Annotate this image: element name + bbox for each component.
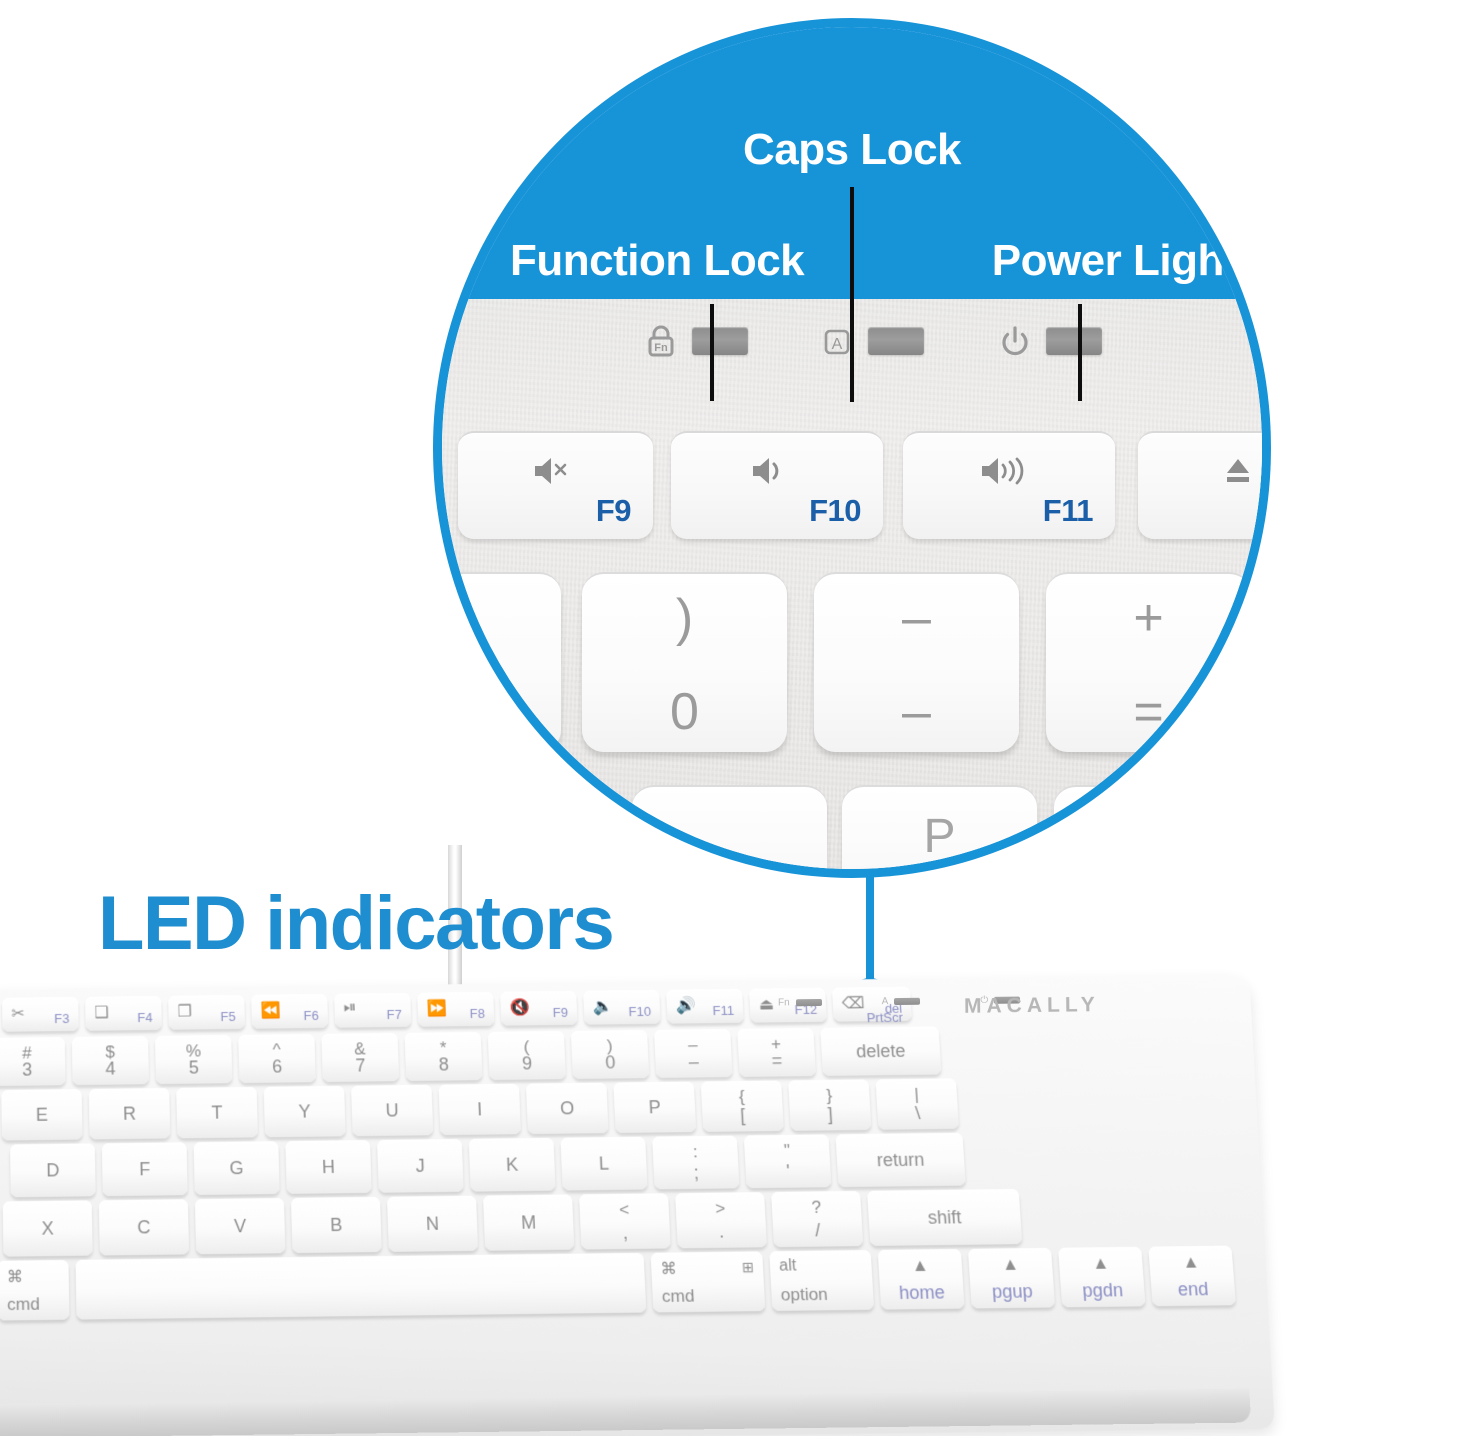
led-function-lock: Fn — [644, 323, 748, 359]
keyboard-led-caps: A — [882, 996, 921, 1007]
svg-text:A: A — [832, 336, 843, 353]
key-glyph: ⏩ — [426, 998, 447, 1018]
key-D[interactable]: D — [10, 1143, 96, 1197]
key-plus-upper: + — [1133, 592, 1163, 644]
key-shift[interactable]: shift — [867, 1189, 1022, 1246]
key-G[interactable]: G — [194, 1141, 280, 1195]
key-8[interactable]: *8 — [405, 1032, 483, 1081]
key-glyph: 🔈 — [592, 996, 613, 1016]
key-upper: > — [715, 1199, 726, 1220]
key-minus-lower: – — [902, 686, 931, 738]
key-lower: – — [688, 1051, 699, 1072]
key-modifier-glyph: alt — [779, 1257, 797, 1276]
key-fn-label: F11 — [712, 1003, 734, 1018]
key-{-[[interactable]: {[ — [701, 1080, 784, 1131]
key-option[interactable]: altoption — [769, 1250, 874, 1311]
key-label: T — [211, 1102, 223, 1123]
key-label: X — [41, 1218, 53, 1240]
key-fn-label: F10 — [628, 1004, 651, 1019]
key-5[interactable]: %5 — [155, 1035, 232, 1084]
key-label: R — [123, 1103, 137, 1124]
key-partial-o[interactable] — [632, 785, 827, 878]
key-upper: < — [619, 1200, 630, 1221]
key-f6[interactable]: ⏪F6 — [251, 994, 328, 1029]
key-f3[interactable]: ✂F3 — [2, 997, 79, 1032]
fn-lock-icon: Fn — [644, 323, 678, 359]
key-nav-label: pgdn — [1082, 1280, 1124, 1302]
key-label: C — [137, 1216, 151, 1238]
key-fn-label: F4 — [137, 1010, 153, 1025]
volume-down-icon — [749, 453, 805, 494]
key-modifier-label: cmd — [661, 1286, 695, 1307]
key-glyph: 🔇 — [509, 997, 530, 1017]
key-lower: 9 — [522, 1053, 533, 1074]
key-nav-label: pgup — [991, 1281, 1033, 1303]
key-partial-left[interactable] — [433, 572, 561, 752]
key-lower: 5 — [189, 1057, 200, 1078]
key-f11-label: F11 — [1043, 493, 1093, 529]
key-modifier-glyph: ⌘ — [660, 1259, 677, 1280]
key-upper: " — [783, 1141, 790, 1161]
key-upper: : — [692, 1142, 698, 1162]
key-f10[interactable]: F10 — [671, 431, 883, 539]
key-glyph: ❑ — [94, 1002, 109, 1022]
key-lower: 3 — [22, 1059, 32, 1080]
key-pgup[interactable]: ▲pgup — [968, 1248, 1055, 1309]
keyboard-q-row: ERTYUIOP{[}]|\ — [1, 1078, 959, 1140]
key-space[interactable] — [76, 1253, 647, 1320]
windows-icon: ⊞ — [741, 1259, 754, 1277]
key-p[interactable]: P — [842, 785, 1037, 878]
arrow-up-icon: ▲ — [1092, 1253, 1111, 1274]
key-end[interactable]: ▲end — [1148, 1246, 1236, 1307]
key-pgdn[interactable]: ▲pgdn — [1058, 1247, 1146, 1308]
key-modifier-label: option — [780, 1284, 828, 1305]
key-0[interactable]: ) 0 — [582, 572, 787, 752]
key-f10[interactable]: 🔈F10 — [583, 990, 661, 1025]
key-label: M — [521, 1212, 537, 1234]
led-caps-lock: A — [820, 323, 924, 359]
key-plus-lower: = — [1133, 686, 1163, 738]
key-fn-label: F9 — [553, 1005, 569, 1020]
key-label: Y — [298, 1101, 311, 1122]
volume-up-icon — [978, 453, 1040, 494]
key-nav-label: home — [898, 1282, 945, 1304]
key-}-][interactable]: }] — [788, 1079, 871, 1130]
key-label: U — [385, 1100, 399, 1121]
key-label: P — [648, 1097, 661, 1118]
key-lower: ; — [693, 1162, 699, 1183]
key-glyph: ⏏ — [758, 994, 774, 1014]
key-6[interactable]: ^6 — [238, 1034, 316, 1083]
key-lower: 7 — [355, 1055, 366, 1076]
key-K[interactable]: K — [469, 1138, 556, 1192]
key-U[interactable]: U — [351, 1085, 433, 1136]
key-delete[interactable]: delete — [820, 1026, 941, 1076]
key-–[interactable]: –– — [654, 1029, 733, 1078]
key-modifier-label: cmd — [7, 1294, 40, 1315]
leader-line-power-light — [1078, 304, 1082, 401]
key-?-/[interactable]: ?/ — [771, 1191, 863, 1247]
key-glyph: 🔊 — [675, 995, 696, 1015]
key-0-lower: 0 — [670, 686, 699, 738]
key-cmd[interactable]: ⌘⊞cmd — [651, 1251, 766, 1312]
key-R[interactable]: R — [89, 1088, 171, 1139]
key-f9[interactable]: 🔇F9 — [500, 991, 577, 1026]
key-glyph: ❐ — [177, 1001, 192, 1021]
key-lower: 6 — [272, 1056, 283, 1077]
key-fn-label: F7 — [386, 1007, 402, 1022]
callout-label-caps-lock: Caps Lock — [743, 125, 961, 175]
key-upper: ? — [811, 1198, 822, 1219]
volume-mute-icon — [531, 453, 581, 494]
key-label: G — [229, 1157, 244, 1179]
key-fn-label: F8 — [469, 1006, 485, 1021]
callout-label-function-lock: Function Lock — [510, 236, 804, 286]
key-f8[interactable]: ⏩F8 — [417, 992, 494, 1027]
fn-lock-lamp — [692, 327, 748, 355]
key-0-upper: ) — [676, 592, 693, 644]
keyboard-led-fn: Fn — [778, 997, 822, 1008]
key-fn-label: F5 — [220, 1009, 236, 1024]
key-f10-label: F10 — [809, 493, 861, 529]
key-label: F — [139, 1158, 151, 1179]
key-minus[interactable]: – – — [814, 572, 1019, 752]
key-label: return — [876, 1149, 925, 1171]
magnified-letter-key-row: P [ — [442, 785, 1262, 878]
key-fn-label: F6 — [303, 1008, 319, 1023]
key-lower: ] — [827, 1104, 833, 1125]
key-label: D — [46, 1160, 59, 1181]
key-7[interactable]: &7 — [321, 1033, 399, 1082]
keyboard-number-row: #3$4%5^6&7*8(9)0––+=delete — [0, 1026, 941, 1086]
key-label: E — [36, 1104, 48, 1125]
key-"-'[interactable]: "' — [744, 1134, 832, 1188]
power-lamp — [1046, 327, 1102, 355]
key-modifier-glyph: ⌘ — [7, 1267, 24, 1288]
key-label: delete — [856, 1040, 906, 1062]
key-label: J — [415, 1155, 425, 1176]
key-glyph: ✂ — [11, 1004, 25, 1024]
brand-logo: MACALLY — [964, 993, 1100, 1019]
key-bracket-left[interactable]: [ — [1054, 785, 1249, 878]
eject-icon — [1218, 453, 1258, 494]
key-f4[interactable]: ❑F4 — [85, 996, 162, 1031]
key-f7[interactable]: ⏯F7 — [334, 993, 411, 1028]
key-M[interactable]: M — [483, 1194, 574, 1250]
key-V[interactable]: V — [195, 1198, 286, 1254]
key-=[interactable]: += — [737, 1028, 816, 1077]
magnified-number-key-row: ) 0 – – + = — [442, 572, 1262, 762]
key-9[interactable]: (9 — [488, 1031, 566, 1080]
key-E[interactable]: E — [1, 1089, 82, 1140]
key-label: B — [330, 1214, 343, 1236]
keyboard-modifier-row: ⌘cmd⌘⊞cmdaltoption▲home▲pgup▲pgdn▲end — [0, 1246, 1236, 1321]
keyboard-function-row: ✂F3❑F4❐F5⏪F6⏯F7⏩F8🔇F9🔈F10🔊F11⏏F12⌫delPrt… — [2, 987, 912, 1032]
key-:-;[interactable]: :; — [652, 1136, 739, 1190]
key-return[interactable]: return — [835, 1133, 965, 1187]
key-T[interactable]: T — [176, 1087, 258, 1138]
svg-text:Fn: Fn — [654, 342, 668, 354]
key-lower: / — [815, 1220, 821, 1242]
key-f5[interactable]: ❐F5 — [168, 995, 245, 1030]
key-f11[interactable]: F11 — [903, 431, 1115, 539]
key-eject[interactable] — [1138, 431, 1271, 539]
leader-line-function-lock — [710, 304, 714, 401]
page-title: LED indicators — [98, 880, 613, 967]
callout-connector-line — [866, 872, 874, 990]
arrow-up-icon: ▲ — [1182, 1252, 1201, 1273]
key-lower: 4 — [105, 1058, 115, 1079]
key-Y[interactable]: Y — [264, 1086, 346, 1137]
caps-lock-lamp — [868, 327, 924, 355]
key-|-\[interactable]: |\ — [875, 1078, 959, 1129]
key-label: O — [560, 1098, 575, 1119]
key-fn-label-2: PrtScr — [866, 1010, 903, 1025]
key-N[interactable]: N — [387, 1196, 478, 1252]
key-3[interactable]: #3 — [0, 1037, 66, 1086]
key-label: H — [322, 1156, 336, 1177]
key-lower: \ — [915, 1103, 921, 1124]
key-fn-label: F3 — [54, 1011, 69, 1026]
key-label: V — [234, 1215, 247, 1237]
key-p-label: P — [923, 809, 955, 864]
key-minus-upper: – — [902, 592, 931, 644]
key-J[interactable]: J — [377, 1139, 464, 1193]
key-nav-label: end — [1177, 1279, 1209, 1301]
key-B[interactable]: B — [291, 1197, 382, 1253]
key-<-,[interactable]: <, — [579, 1193, 671, 1249]
arrow-up-icon: ▲ — [1001, 1254, 1019, 1275]
key-C[interactable]: C — [99, 1199, 189, 1255]
key-f9-label: F9 — [596, 493, 631, 529]
key-4[interactable]: $4 — [72, 1036, 149, 1085]
key-F[interactable]: F — [102, 1142, 188, 1196]
key-lower: 8 — [438, 1054, 449, 1075]
key-cmd[interactable]: ⌘cmd — [0, 1260, 69, 1321]
key-X[interactable]: X — [3, 1200, 93, 1256]
callout-label-power-light: Power Light — [992, 236, 1238, 286]
magnified-function-key-row: F9 F10 — [442, 431, 1262, 543]
magnifier-circle: Fn A — [433, 18, 1271, 878]
key-plus-equals[interactable]: + = — [1046, 572, 1251, 752]
key-H[interactable]: H — [285, 1140, 371, 1194]
key-P[interactable]: P — [613, 1082, 696, 1133]
key-label: K — [506, 1154, 519, 1175]
keyboard-key-field: ✂F3❑F4❐F5⏪F6⏯F7⏩F8🔇F9🔈F10🔊F11⏏F12⌫delPrt… — [0, 975, 1286, 1436]
key-bracket-left-label: [ — [1145, 809, 1158, 864]
key-lower: , — [622, 1222, 628, 1244]
key-home[interactable]: ▲home — [878, 1249, 965, 1310]
key-O[interactable]: O — [526, 1083, 609, 1134]
key-label: shift — [927, 1206, 962, 1228]
arrow-up-icon: ▲ — [911, 1255, 929, 1276]
key-lower: . — [718, 1221, 724, 1243]
key-label: N — [426, 1213, 440, 1235]
keyboard-z-row: XCVBNM<,>.?/shift — [3, 1189, 1023, 1257]
key-L[interactable]: L — [560, 1137, 647, 1191]
key-glyph: ⏯ — [343, 999, 356, 1017]
key-lower: [ — [740, 1105, 746, 1126]
keyboard: MACALLY Fn A ⏻ ✂F3❑F4❐F5⏪F6⏯F7⏩F8🔇F9🔈F10… — [0, 990, 1250, 1436]
key-glyph: ⏪ — [260, 1000, 280, 1020]
key-lower: ' — [786, 1161, 791, 1182]
key-label: I — [477, 1099, 483, 1120]
power-icon — [998, 323, 1032, 359]
key-lower: 0 — [605, 1052, 616, 1073]
key-0[interactable]: )0 — [571, 1030, 649, 1079]
keyboard-a-row: DFGHJKL:;"'return — [10, 1133, 966, 1198]
leader-line-caps-lock — [850, 187, 854, 402]
led-power — [998, 323, 1102, 359]
key-f11[interactable]: 🔊F11 — [666, 989, 744, 1024]
key-f9[interactable]: F9 — [458, 431, 653, 539]
key->-.[interactable]: >. — [675, 1192, 767, 1248]
infographic-stage: LED indicators Fn — [0, 0, 1474, 1436]
caps-a-icon: A — [820, 323, 854, 359]
key-I[interactable]: I — [439, 1084, 521, 1135]
key-lower: = — [771, 1050, 783, 1071]
key-label: L — [598, 1153, 609, 1174]
